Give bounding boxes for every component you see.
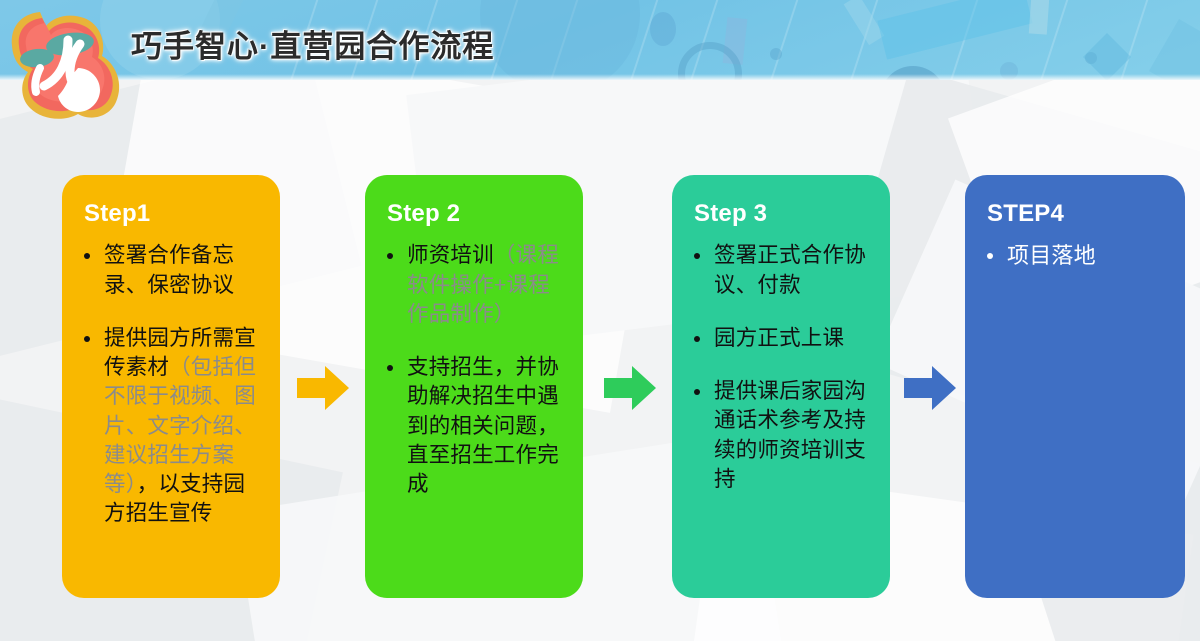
logo-qiao-icon bbox=[4, 4, 128, 128]
step-card-3[interactable]: Step 3 签署正式合作协议、付款 园方正式上课 提供课后家园沟通话术参考及持… bbox=[672, 175, 890, 598]
list-item: 签署合作备忘录、保密协议 bbox=[80, 241, 264, 299]
step-card-1[interactable]: Step1 签署合作备忘录、保密协议 提供园方所需宣传素材（包括但不限于视频、图… bbox=[62, 175, 280, 598]
steps-container: Step1 签署合作备忘录、保密协议 提供园方所需宣传素材（包括但不限于视频、图… bbox=[0, 0, 1200, 641]
step-card-1-bullets: 签署合作备忘录、保密协议 提供园方所需宣传素材（包括但不限于视频、图片、文字介绍… bbox=[80, 241, 264, 528]
arrow-step1-to-step2 bbox=[295, 362, 351, 414]
bullet-text: 园方正式上课 bbox=[714, 326, 844, 350]
step-card-2-title: Step 2 bbox=[387, 201, 567, 227]
bullet-text: 签署正式合作协议、付款 bbox=[714, 243, 866, 296]
list-item: 提供课后家园沟通话术参考及持续的师资培训支持 bbox=[690, 377, 874, 494]
bullet-text: 项目落地 bbox=[1007, 243, 1096, 268]
header-banner: 巧手智心·直营园合作流程 bbox=[0, 0, 1200, 80]
step-card-3-title: Step 3 bbox=[694, 201, 874, 227]
page-title: 巧手智心·直营园合作流程 bbox=[131, 21, 494, 66]
step-card-1-title: Step1 bbox=[84, 201, 264, 227]
arrow-step3-to-step4 bbox=[902, 362, 958, 414]
slide-root: 巧手智心·直营园合作流程 Step1 签署合作备忘录、保密协议 bbox=[0, 0, 1200, 641]
step-card-4[interactable]: STEP4 项目落地 bbox=[965, 175, 1185, 598]
list-item: 支持招生，并协助解决招生中遇到的相关问题，直至招生工作完成 bbox=[383, 353, 567, 499]
list-item: 项目落地 bbox=[983, 241, 1169, 271]
bullet-text: 支持招生，并协助解决招生中遇到的相关问题，直至招生工作完成 bbox=[407, 355, 559, 496]
header-bottom-fade bbox=[0, 74, 1200, 80]
step-card-4-title: STEP4 bbox=[987, 201, 1169, 227]
arrow-right-icon bbox=[902, 362, 958, 414]
bullet-text: 签署合作备忘录、保密协议 bbox=[104, 243, 234, 296]
arrow-right-icon bbox=[295, 362, 351, 414]
step-card-2[interactable]: Step 2 师资培训（课程软件操作+课程作品制作） 支持招生，并协助解决招生中… bbox=[365, 175, 583, 598]
bullet-text: 提供课后家园沟通话术参考及持续的师资培训支持 bbox=[714, 379, 866, 491]
list-item: 提供园方所需宣传素材（包括但不限于视频、图片、文字介绍、建议招生方案等），以支持… bbox=[80, 324, 264, 529]
arrow-step2-to-step3 bbox=[602, 362, 658, 414]
list-item: 师资培训（课程软件操作+课程作品制作） bbox=[383, 241, 567, 329]
step-card-2-bullets: 师资培训（课程软件操作+课程作品制作） 支持招生，并协助解决招生中遇到的相关问题… bbox=[383, 241, 567, 499]
arrow-right-icon bbox=[602, 362, 658, 414]
list-item: 园方正式上课 bbox=[690, 324, 874, 353]
step-card-3-bullets: 签署正式合作协议、付款 园方正式上课 提供课后家园沟通话术参考及持续的师资培训支… bbox=[690, 241, 874, 494]
bullet-text: 师资培训 bbox=[407, 243, 494, 267]
list-item: 签署正式合作协议、付款 bbox=[690, 241, 874, 299]
step-card-4-bullets: 项目落地 bbox=[983, 241, 1169, 271]
brand-logo bbox=[4, 4, 128, 128]
